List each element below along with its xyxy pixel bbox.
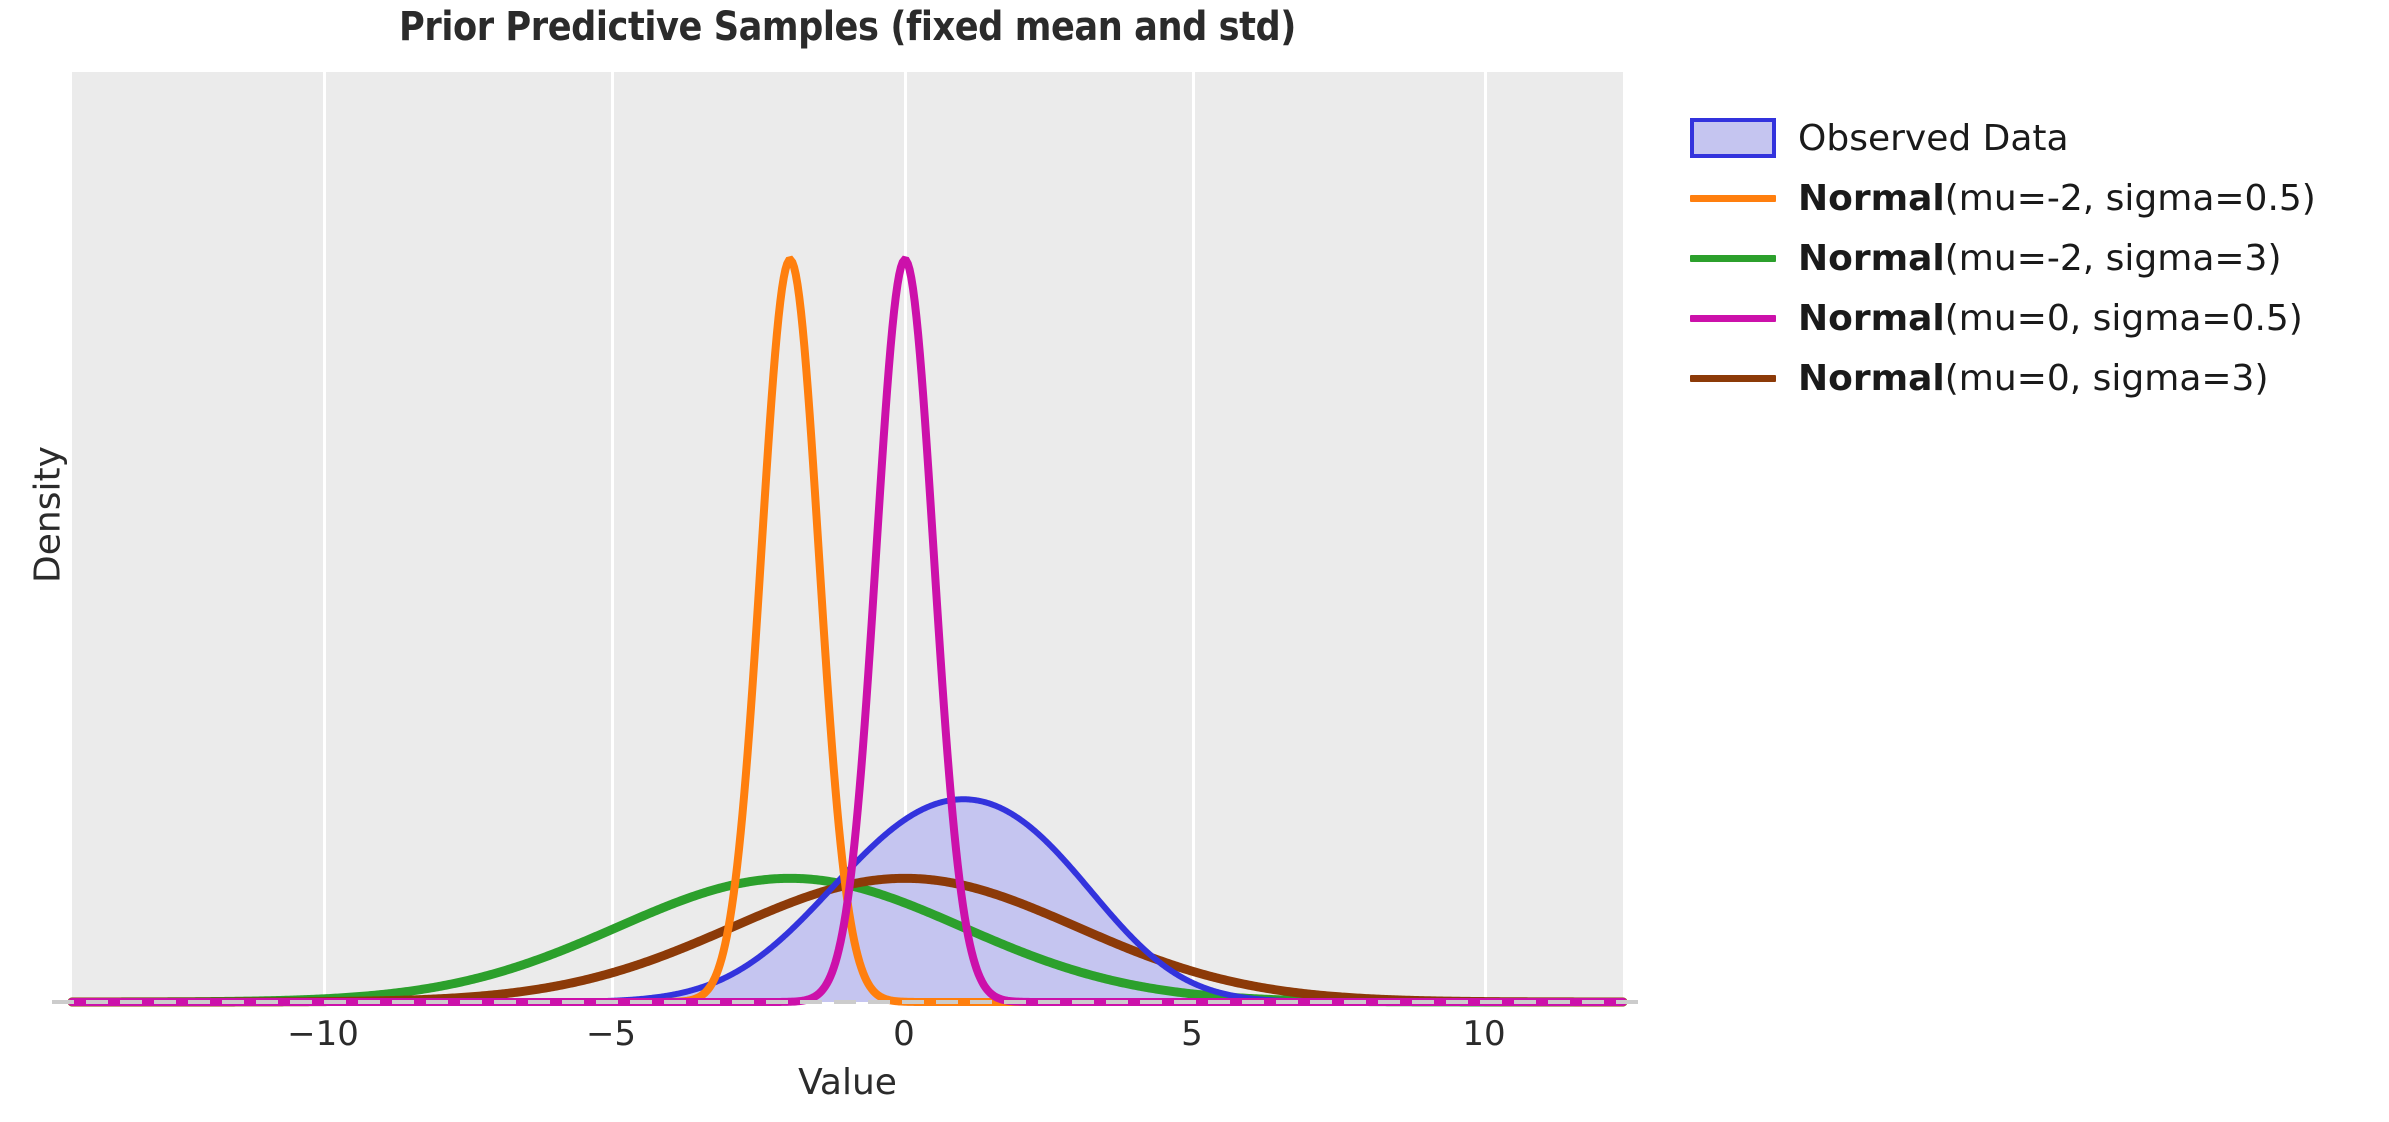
line-icon: [1690, 315, 1776, 322]
line-icon: [1690, 375, 1776, 382]
legend-item-1[interactable]: Normal(mu=-2, sigma=0.5): [1690, 168, 2370, 228]
legend-label-2: Normal(mu=-2, sigma=3): [1798, 238, 2282, 279]
legend-label-0: Observed Data: [1798, 118, 2069, 159]
legend-swatch-1: [1690, 195, 1798, 202]
legend-swatch-3: [1690, 315, 1798, 322]
xtick-label-10: 10: [1462, 1014, 1505, 1054]
plot-area: [72, 72, 1623, 1002]
legend-label-4: Normal(mu=0, sigma=3): [1798, 358, 2269, 399]
legend-item-3[interactable]: Normal(mu=0, sigma=0.5): [1690, 288, 2370, 348]
legend-label-3: Normal(mu=0, sigma=0.5): [1798, 298, 2303, 339]
y-axis-label: Density: [28, 405, 69, 625]
xtick-label-5: 5: [1181, 1014, 1203, 1054]
line-icon: [1690, 255, 1776, 262]
series-canvas: [72, 72, 1623, 1002]
patch-icon: [1690, 118, 1776, 158]
legend-item-2[interactable]: Normal(mu=-2, sigma=3): [1690, 228, 2370, 288]
xtick-label-0: 0: [893, 1014, 915, 1054]
xtick-label-neg10: −10: [287, 1014, 359, 1054]
line-icon: [1690, 195, 1776, 202]
legend-label-1: Normal(mu=-2, sigma=0.5): [1798, 178, 2316, 219]
legend-swatch-0: [1690, 118, 1798, 158]
xtick-label-neg5: −5: [586, 1014, 636, 1054]
legend-item-0[interactable]: Observed Data: [1690, 108, 2370, 168]
series-normal-mu-0-sigma05: [72, 260, 1623, 1002]
legend: Observed DataNormal(mu=-2, sigma=0.5)Nor…: [1690, 108, 2370, 408]
x-axis-spine: [52, 1000, 1643, 1004]
x-axis-label: Value: [72, 1062, 1623, 1103]
legend-swatch-2: [1690, 255, 1798, 262]
legend-item-4[interactable]: Normal(mu=0, sigma=3): [1690, 348, 2370, 408]
legend-swatch-4: [1690, 375, 1798, 382]
figure-canvas: Prior Predictive Samples (fixed mean and…: [0, 0, 2389, 1122]
page-title: Prior Predictive Samples (fixed mean and…: [165, 4, 1530, 50]
